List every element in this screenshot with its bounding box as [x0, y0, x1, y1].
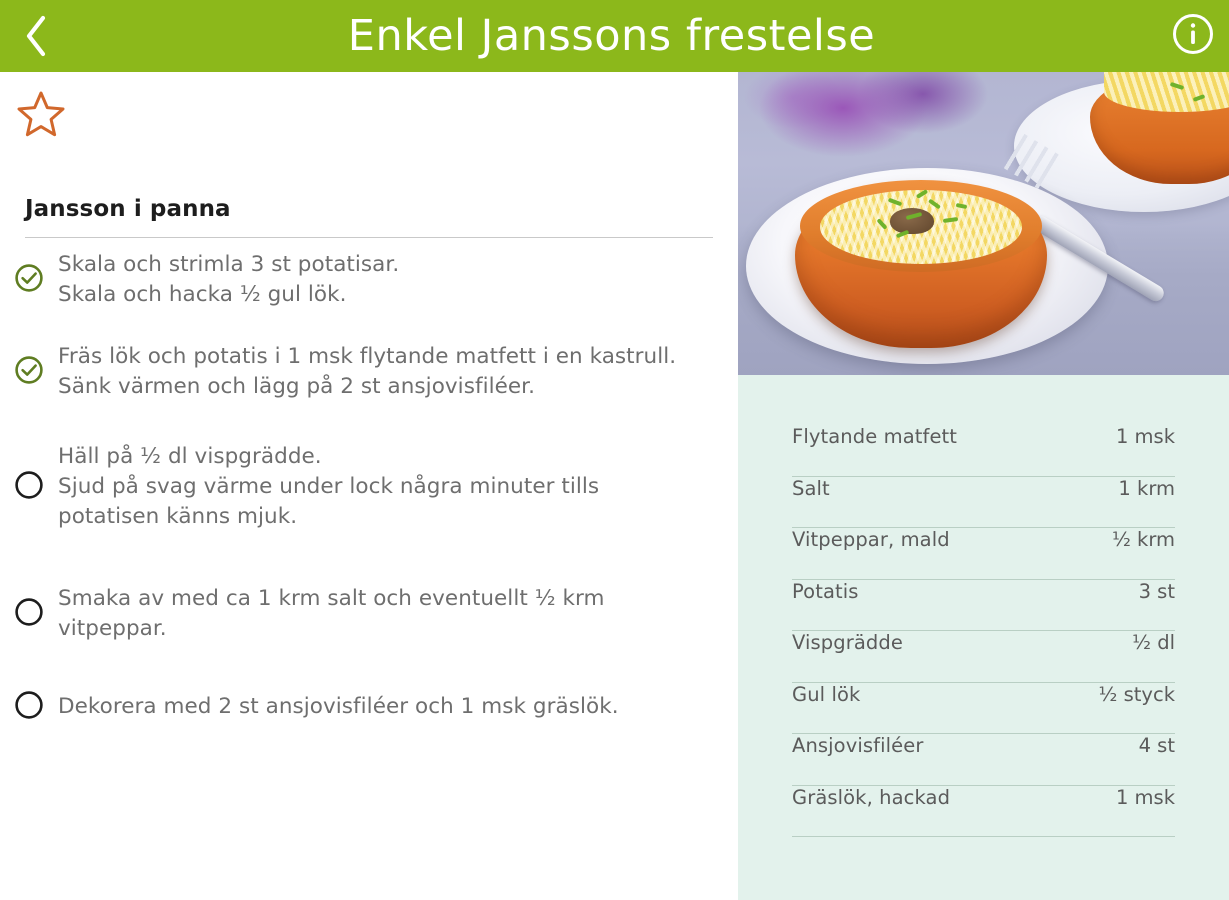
ingredients-column: Flytande matfett 1 msk Salt 1 krm Vitpep…	[738, 72, 1229, 900]
circle-outline-icon	[14, 470, 44, 504]
step-text: Fräs lök och potatis i 1 msk flytande ma…	[58, 342, 738, 402]
step-item[interactable]: Häll på ½ dl vispgrädde. Sjud på svag vä…	[0, 442, 738, 532]
step-line: Sjud på svag värme under lock några minu…	[58, 472, 708, 502]
back-button[interactable]	[0, 0, 72, 72]
circle-outline-icon	[14, 597, 44, 631]
ingredient-name: Ansjovisfiléer	[792, 734, 923, 757]
ingredient-amount: 1 msk	[1116, 786, 1175, 809]
page-title: Enkel Janssons frestelse	[72, 0, 1157, 72]
ingredient-row: Gul lök ½ styck	[792, 683, 1175, 735]
step-line: Smaka av med ca 1 krm salt och eventuell…	[58, 584, 708, 614]
step-checkbox[interactable]	[0, 470, 58, 504]
ingredient-amount: ½ dl	[1132, 631, 1175, 654]
app-header: Enkel Janssons frestelse	[0, 0, 1229, 72]
ingredient-row: Ansjovisfiléer 4 st	[792, 734, 1175, 786]
ingredient-name: Potatis	[792, 580, 859, 603]
step-text: Smaka av med ca 1 krm salt och eventuell…	[58, 584, 738, 644]
ingredient-name: Vitpeppar, mald	[792, 528, 950, 551]
ingredient-name: Gul lök	[792, 683, 860, 706]
ingredients-list: Flytande matfett 1 msk Salt 1 krm Vitpep…	[738, 375, 1229, 837]
ingredient-row: Vispgrädde ½ dl	[792, 631, 1175, 683]
step-text: Häll på ½ dl vispgrädde. Sjud på svag vä…	[58, 442, 738, 532]
step-line: potatisen känns mjuk.	[58, 502, 708, 532]
favorite-button[interactable]	[13, 90, 69, 142]
steps-list: Skala och strimla 3 st potatisar. Skala …	[0, 248, 738, 736]
step-checkbox[interactable]	[0, 263, 58, 297]
chevron-left-icon	[23, 14, 49, 58]
recipe-section-title: Jansson i panna	[25, 196, 231, 222]
title-divider	[25, 237, 713, 238]
ingredient-row: Vitpeppar, mald ½ krm	[792, 528, 1175, 580]
step-line: Fräs lök och potatis i 1 msk flytande ma…	[58, 342, 708, 372]
ingredient-name: Flytande matfett	[792, 425, 957, 448]
ingredient-name: Vispgrädde	[792, 631, 903, 654]
step-item[interactable]: Dekorera med 2 st ansjovisfiléer och 1 m…	[0, 678, 738, 736]
step-item[interactable]: Smaka av med ca 1 krm salt och eventuell…	[0, 584, 738, 644]
ingredient-name: Gräslök, hackad	[792, 786, 950, 809]
photo-mushroom	[890, 208, 934, 234]
ingredient-amount: 4 st	[1139, 734, 1175, 757]
instructions-column: Jansson i panna Skala och strimla 3 st p…	[0, 72, 738, 900]
recipe-app: Enkel Janssons frestelse Jansson i panna	[0, 0, 1229, 900]
check-circle-icon	[14, 263, 44, 297]
step-line: Skala och hacka ½ gul lök.	[58, 280, 708, 310]
ingredient-amount: 1 msk	[1116, 425, 1175, 448]
step-line: Sänk värmen och lägg på 2 st ansjovisfil…	[58, 372, 708, 402]
info-button[interactable]	[1157, 0, 1229, 72]
step-item[interactable]: Skala och strimla 3 st potatisar. Skala …	[0, 250, 738, 310]
step-text: Skala och strimla 3 st potatisar. Skala …	[58, 250, 738, 310]
step-line: vitpeppar.	[58, 614, 708, 644]
step-text: Dekorera med 2 st ansjovisfiléer och 1 m…	[58, 692, 738, 722]
step-checkbox[interactable]	[0, 597, 58, 631]
step-checkbox[interactable]	[0, 690, 58, 724]
step-checkbox[interactable]	[0, 355, 58, 389]
step-line: Häll på ½ dl vispgrädde.	[58, 442, 708, 472]
step-line: Dekorera med 2 st ansjovisfiléer och 1 m…	[58, 692, 708, 722]
check-circle-icon	[14, 355, 44, 389]
ingredient-amount: 3 st	[1139, 580, 1175, 603]
circle-outline-icon	[14, 690, 44, 724]
step-item[interactable]: Fräs lök och potatis i 1 msk flytande ma…	[0, 342, 738, 402]
ingredient-row: Potatis 3 st	[792, 580, 1175, 632]
ingredient-amount: ½ styck	[1099, 683, 1175, 706]
ingredient-row: Flytande matfett 1 msk	[792, 425, 1175, 477]
ingredient-row: Salt 1 krm	[792, 477, 1175, 529]
step-line: Skala och strimla 3 st potatisar.	[58, 250, 708, 280]
info-circle-icon	[1171, 12, 1215, 60]
ingredient-row: Gräslök, hackad 1 msk	[792, 786, 1175, 838]
ingredient-name: Salt	[792, 477, 830, 500]
recipe-photo	[738, 72, 1229, 375]
star-outline-icon	[16, 90, 66, 142]
ingredient-amount: 1 krm	[1118, 477, 1175, 500]
ingredient-amount: ½ krm	[1112, 528, 1175, 551]
